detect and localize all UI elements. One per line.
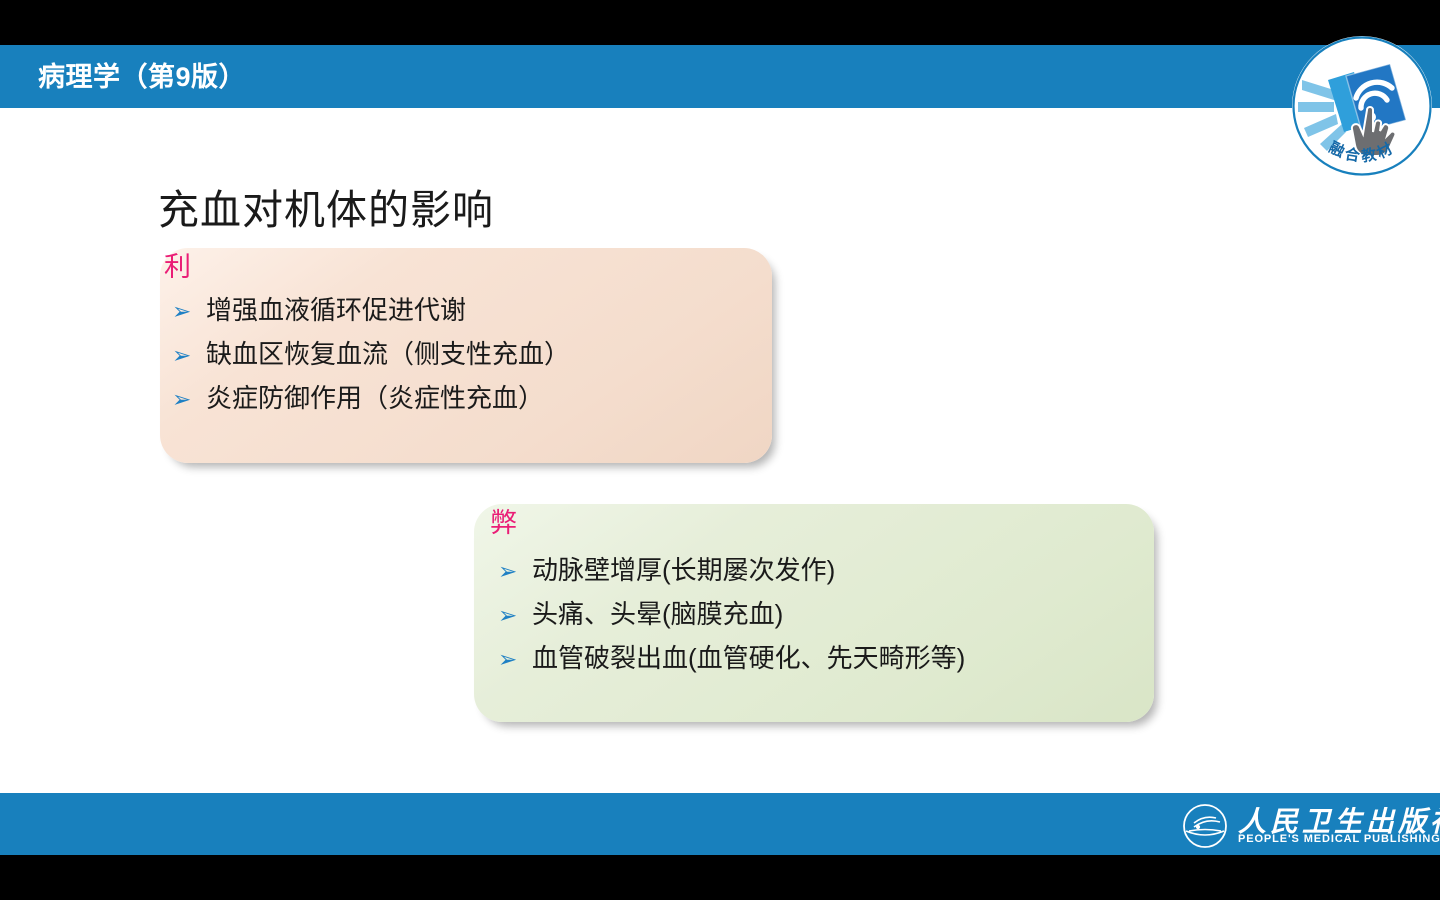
pros-box-heading: 利 (164, 250, 191, 284)
list-item: ➢ 增强血液循环促进代谢 (164, 288, 776, 332)
arrow-bullet-icon: ➢ (164, 333, 206, 377)
arrow-bullet-icon: ➢ (490, 593, 532, 637)
pros-box: 利 ➢ 增强血液循环促进代谢 ➢ 缺血区恢复血流（侧支性充血） ➢ 炎症防御作用… (160, 248, 772, 463)
list-item-label: 缺血区恢复血流（侧支性充血） (206, 332, 570, 376)
list-item: ➢ 炎症防御作用（炎症性充血） (164, 376, 776, 420)
list-item: ➢ 缺血区恢复血流（侧支性充血） (164, 332, 776, 376)
publisher-emblem-icon (1182, 803, 1228, 849)
cons-box-heading: 弊 (490, 506, 517, 540)
arrow-bullet-icon: ➢ (490, 637, 532, 681)
cons-bullet-list: ➢ 动脉壁增厚(长期屡次发作) ➢ 头痛、头晕(脑膜充血) ➢ 血管破裂出血(血… (490, 548, 1170, 680)
page-title: 充血对机体的影响 (158, 176, 494, 236)
cons-box: 弊 ➢ 动脉壁增厚(长期屡次发作) ➢ 头痛、头晕(脑膜充血) ➢ 血管破裂出血… (474, 504, 1154, 722)
list-item: ➢ 动脉壁增厚(长期屡次发作) (490, 548, 1170, 592)
list-item: ➢ 血管破裂出血(血管硬化、先天畸形等) (490, 636, 1170, 680)
ronghe-jiaocai-badge: 融合教材 (1288, 32, 1436, 180)
list-item-label: 增强血液循环促进代谢 (206, 288, 466, 332)
pros-bullet-list: ➢ 增强血液循环促进代谢 ➢ 缺血区恢复血流（侧支性充血） ➢ 炎症防御作用（炎… (164, 288, 776, 420)
arrow-bullet-icon: ➢ (164, 377, 206, 421)
tablet-wifi-hand-icon: 融合教材 (1288, 32, 1436, 180)
list-item-label: 动脉壁增厚(长期屡次发作) (532, 548, 835, 592)
list-item-label: 血管破裂出血(血管硬化、先天畸形等) (532, 636, 965, 680)
publisher-name-en: PEOPLE'S MEDICAL PUBLISHING HOUSE (1238, 833, 1440, 845)
list-item: ➢ 头痛、头晕(脑膜充血) (490, 592, 1170, 636)
slide-canvas: 病理学（第9版） (0, 0, 1440, 900)
arrow-bullet-icon: ➢ (164, 289, 206, 333)
arrow-bullet-icon: ➢ (490, 549, 532, 593)
letterbox-bar-bottom (0, 855, 1440, 900)
list-item-label: 头痛、头晕(脑膜充血) (532, 592, 783, 636)
letterbox-bar-top (0, 0, 1440, 45)
course-title: 病理学（第9版） (38, 57, 246, 97)
list-item-label: 炎症防御作用（炎症性充血） (206, 376, 544, 420)
